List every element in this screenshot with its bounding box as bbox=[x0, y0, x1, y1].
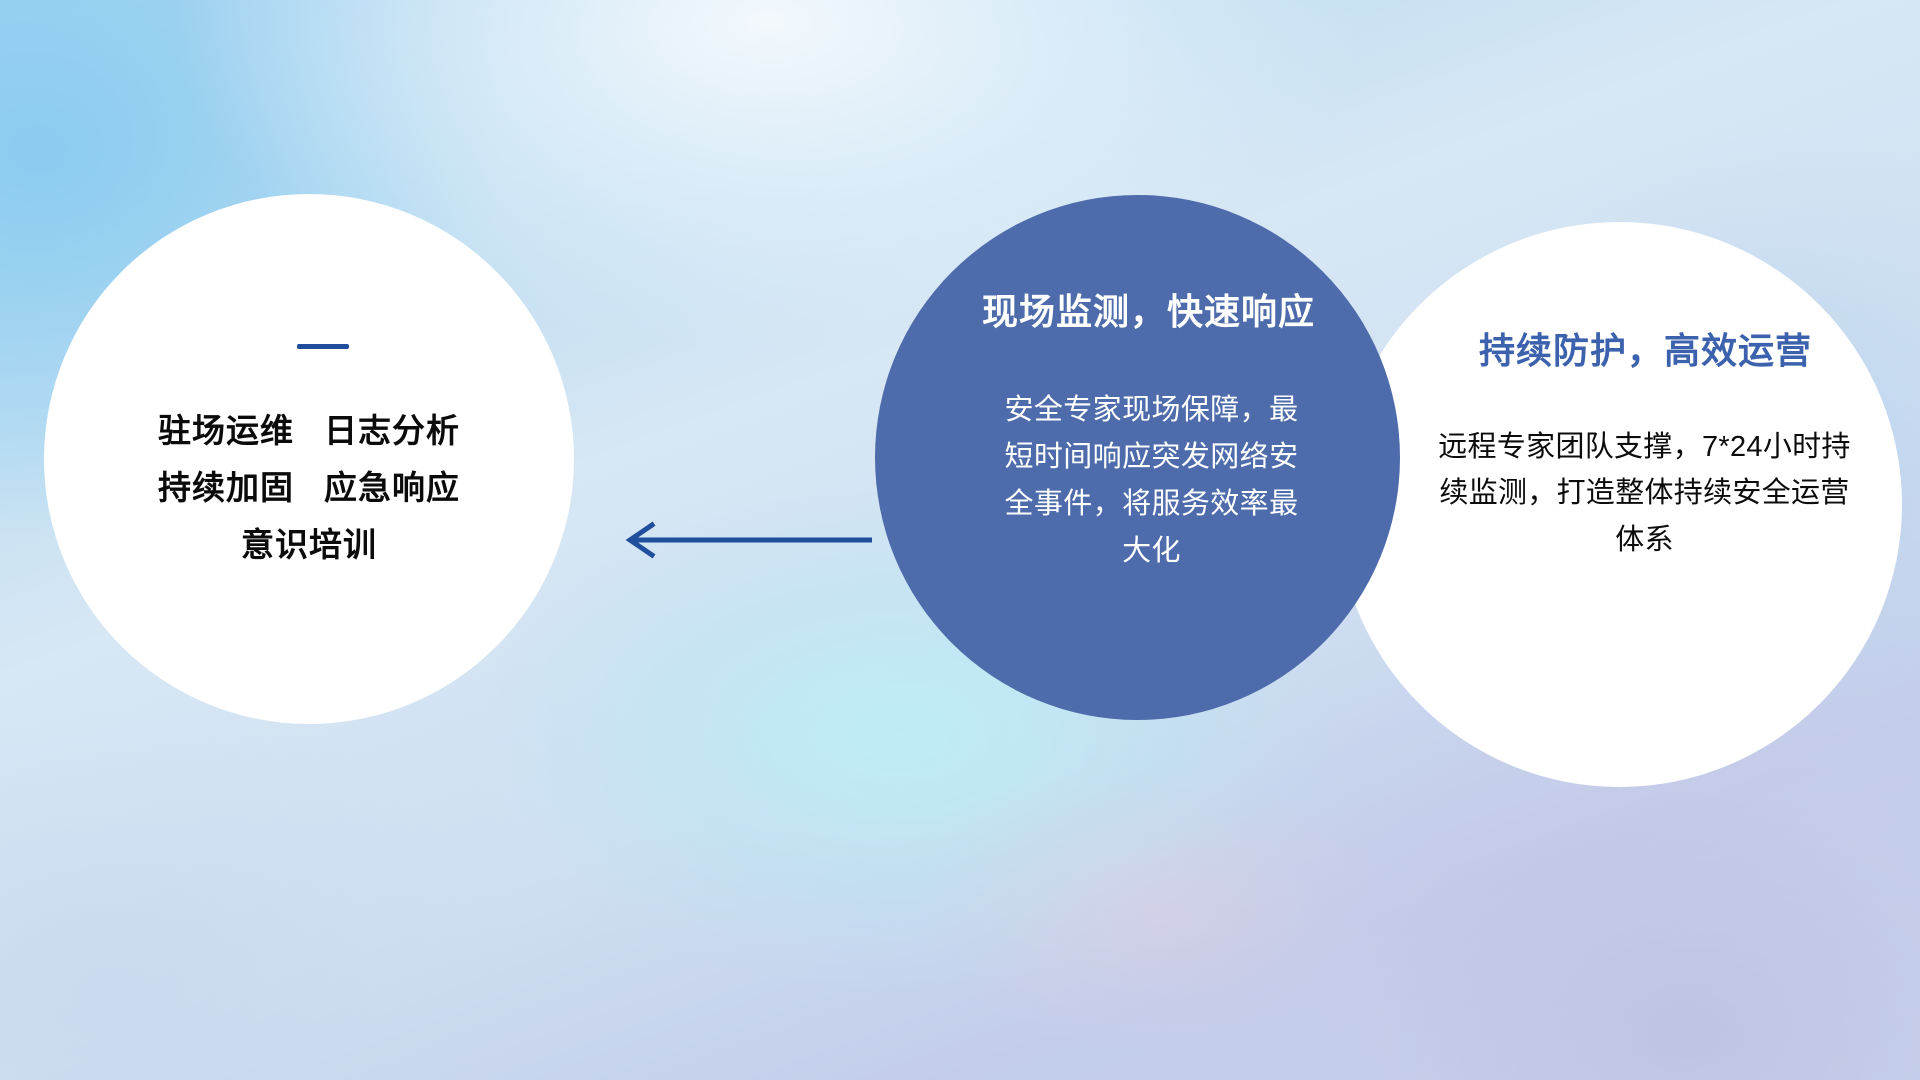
continuous-protection-title: 持续防护，高效运营 bbox=[1479, 322, 1812, 374]
list-item: 意识培训 bbox=[158, 517, 460, 574]
onsite-monitoring-body: 安全专家现场保障，最短时间响应突发网络安全事件，将服务效率最大化 bbox=[993, 387, 1311, 575]
list-item: 驻场运维日志分析 bbox=[158, 403, 460, 460]
keyword-label: 持续加固 bbox=[158, 469, 294, 506]
keyword-label: 驻场运维 bbox=[158, 412, 294, 449]
keyword-label: 日志分析 bbox=[324, 412, 460, 449]
slide-canvas: 驻场运维日志分析 持续加固应急响应 意识培训 持续防护，高效运营 远程专家团队支… bbox=[0, 0, 1920, 1080]
capabilities-circle[interactable]: 驻场运维日志分析 持续加固应急响应 意识培训 bbox=[44, 194, 574, 724]
divider-line-icon bbox=[297, 344, 349, 349]
keyword-label: 应急响应 bbox=[324, 469, 460, 506]
flow-arrow-left bbox=[610, 516, 875, 564]
capability-keyword-list: 驻场运维日志分析 持续加固应急响应 意识培训 bbox=[158, 403, 460, 573]
keyword-label: 意识培训 bbox=[241, 526, 377, 563]
onsite-monitoring-title: 现场监测，快速响应 bbox=[982, 283, 1315, 335]
continuous-protection-body: 远程专家团队支撑，7*24小时持续监测，打造整体持续安全运营体系 bbox=[1435, 424, 1855, 563]
onsite-monitoring-circle[interactable]: 现场监测，快速响应 安全专家现场保障，最短时间响应突发网络安全事件，将服务效率最… bbox=[875, 195, 1400, 720]
list-item: 持续加固应急响应 bbox=[158, 460, 460, 517]
continuous-protection-circle[interactable]: 持续防护，高效运营 远程专家团队支撑，7*24小时持续监测，打造整体持续安全运营… bbox=[1337, 222, 1902, 787]
